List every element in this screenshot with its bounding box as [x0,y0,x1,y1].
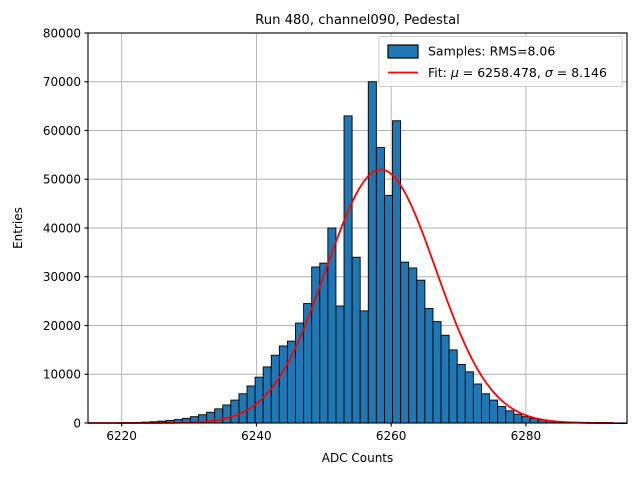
y-tick-label: 20000 [43,319,81,333]
y-tick-label: 80000 [43,26,81,40]
histogram-bar [271,355,279,423]
histogram-bar [320,263,328,423]
histogram-bar [401,262,409,423]
legend-label-fit: Fit: μ = 6258.478, σ = 8.146 [428,65,607,80]
histogram-bar [279,346,287,423]
y-tick-label: 0 [73,416,81,430]
histogram-bar [376,148,384,423]
histogram-bar [368,82,376,423]
histogram-bar [409,268,417,423]
histogram-bar [336,306,344,423]
histogram-bar [247,386,255,423]
histogram-bar [441,335,449,423]
histogram-bar [255,377,263,423]
histogram-bar [344,116,352,423]
legend-fit-prefix: Fit: [428,65,451,80]
legend-fit-mu-value: = 6258.478, [459,65,545,80]
chart-legend[interactable]: Samples: RMS=8.06 Fit: μ = 6258.478, σ =… [379,37,622,87]
y-tick-label: 70000 [43,75,81,89]
x-tick-label: 6220 [106,429,137,443]
histogram-bar [473,384,481,423]
histogram-bar [490,400,498,423]
histogram-bar [263,367,271,423]
histogram-bar [384,195,392,423]
histogram-bar [328,228,336,423]
histogram-bar [522,417,530,423]
y-axis-label: Entries [11,207,25,249]
histogram-bar [425,308,433,423]
legend-fit-mu-symbol: μ [450,65,459,80]
histogram-bar [465,372,473,423]
legend-fit-sigma-value: = 8.146 [553,65,607,80]
legend-swatch-samples [388,45,418,58]
histogram-bar [360,311,368,423]
histogram-bar [457,365,465,424]
y-tick-label: 40000 [43,221,81,235]
histogram-bar [239,394,247,423]
histogram-bar [433,322,441,423]
x-tick-label: 6260 [376,429,407,443]
histogram-bar [417,280,425,423]
x-axis-label: ADC Counts [322,451,394,465]
histogram-bar [223,405,231,423]
histogram-bar [231,400,239,423]
histogram-bar [287,341,295,423]
histogram-bar [481,394,489,423]
histogram-bar [393,121,401,423]
y-tick-label: 10000 [43,368,81,382]
histogram-bar [506,411,514,423]
y-tick-label: 30000 [43,270,81,284]
matplotlib-figure: 6220624062606280 01000020000300004000050… [0,0,640,480]
y-tick-label: 50000 [43,173,81,187]
chart-title: Run 480, channel090, Pedestal [255,13,460,28]
x-tick-label: 6280 [511,429,542,443]
histogram-bar [514,414,522,423]
legend-label-samples: Samples: RMS=8.06 [428,44,555,59]
chart-canvas: 6220624062606280 01000020000300004000050… [0,0,640,480]
y-tick-labels: 0100002000030000400005000060000700008000… [43,26,81,430]
histogram-bar [498,406,506,423]
histogram-bar [449,350,457,423]
y-tick-label: 60000 [43,124,81,138]
x-tick-label: 6240 [241,429,272,443]
histogram-bar [352,257,360,423]
